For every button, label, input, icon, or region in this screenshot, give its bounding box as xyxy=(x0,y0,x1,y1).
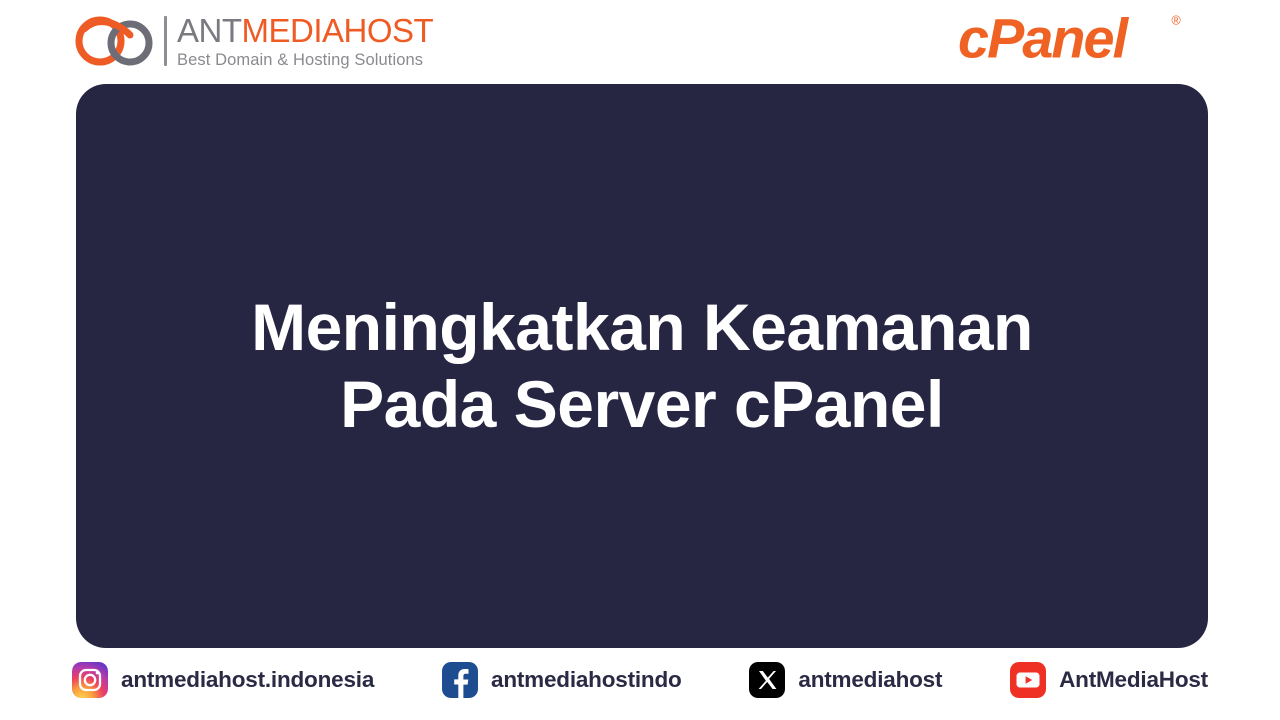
page-title: Meningkatkan Keamanan Pada Server cPanel xyxy=(251,289,1033,442)
headline-line-1: Meningkatkan Keamanan xyxy=(251,290,1033,364)
social-handle-youtube[interactable]: AntMediaHost xyxy=(1059,667,1208,693)
brand-text: ANTMEDIAHOST Best Domain & Hosting Solut… xyxy=(177,14,433,69)
social-item-youtube[interactable]: AntMediaHost xyxy=(1010,662,1208,698)
instagram-icon[interactable] xyxy=(72,662,108,698)
header-bar: ANTMEDIAHOST Best Domain & Hosting Solut… xyxy=(0,0,1280,84)
svg-text:®: ® xyxy=(1171,14,1181,28)
infinity-loop-icon xyxy=(72,13,160,69)
social-item-instagram[interactable]: antmediahost.indonesia xyxy=(72,662,374,698)
brand-name-mediahost: MEDIAHOST xyxy=(242,12,434,49)
social-item-x[interactable]: antmediahost xyxy=(749,662,942,698)
x-twitter-icon[interactable] xyxy=(749,662,785,698)
facebook-icon[interactable] xyxy=(442,662,478,698)
youtube-icon[interactable] xyxy=(1010,662,1046,698)
cpanel-logo-icon: cPanel ® xyxy=(958,8,1208,72)
brand-divider xyxy=(164,16,167,66)
social-handle-facebook[interactable]: antmediahostindo xyxy=(491,667,682,693)
social-footer: antmediahost.indonesia antmediahostindo … xyxy=(72,656,1208,704)
svg-text:cPanel: cPanel xyxy=(958,9,1130,69)
brand-logo: ANTMEDIAHOST Best Domain & Hosting Solut… xyxy=(72,8,433,74)
brand-name: ANTMEDIAHOST xyxy=(177,14,433,47)
social-item-facebook[interactable]: antmediahostindo xyxy=(442,662,682,698)
headline-line-2: Pada Server cPanel xyxy=(251,366,1033,443)
brand-name-ant: ANT xyxy=(177,12,242,49)
slide-canvas: ANTMEDIAHOST Best Domain & Hosting Solut… xyxy=(0,0,1280,720)
social-handle-x[interactable]: antmediahost xyxy=(798,667,942,693)
title-card: Meningkatkan Keamanan Pada Server cPanel xyxy=(76,84,1208,648)
brand-tagline: Best Domain & Hosting Solutions xyxy=(177,52,433,69)
social-handle-instagram[interactable]: antmediahost.indonesia xyxy=(121,667,374,693)
